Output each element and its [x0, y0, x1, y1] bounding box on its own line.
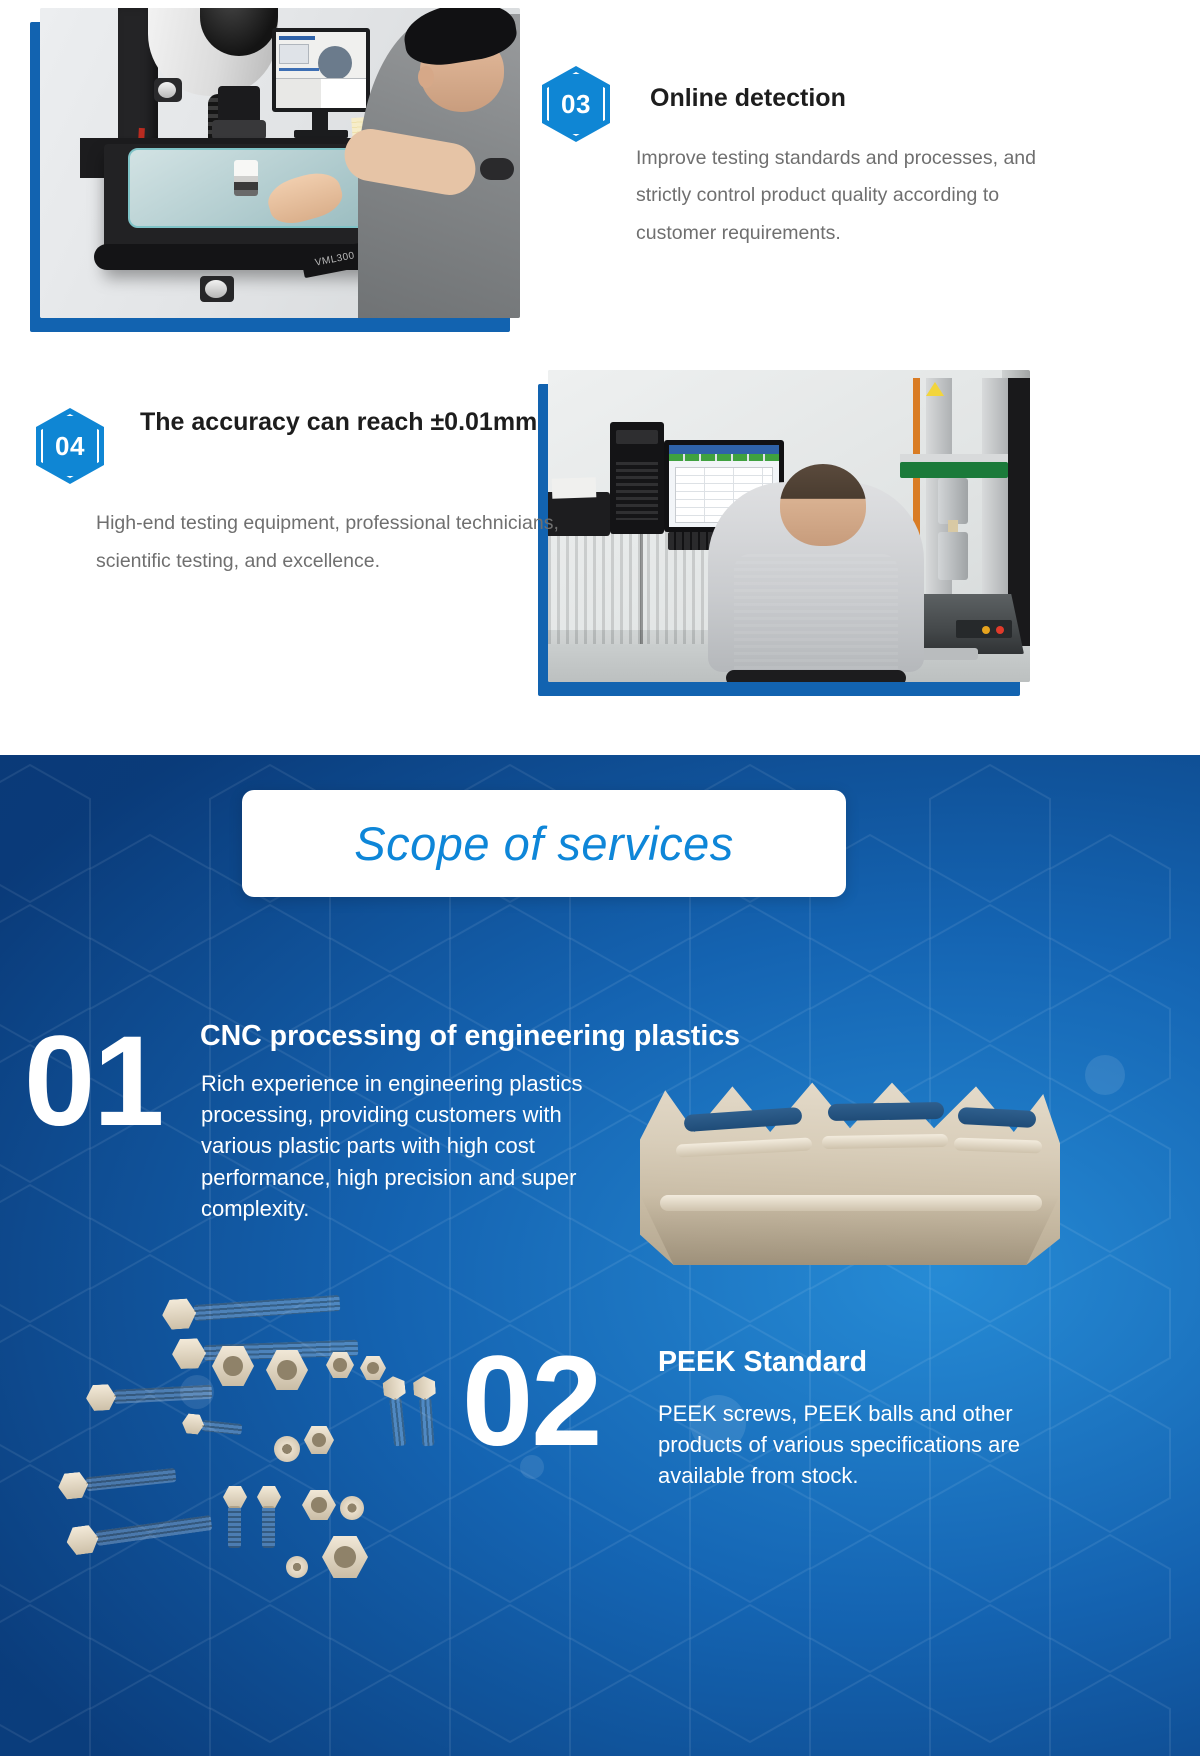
feature-block-03: 03 Online detection Improve testing stan… [538, 62, 1178, 146]
feature-title: The accuracy can reach ±0.01mm [140, 406, 540, 439]
scope-item-title: PEEK Standard [658, 1346, 867, 1379]
scope-item-number: 01 [24, 1018, 162, 1146]
tensile-testing-photo [548, 370, 1030, 682]
photo-content: VML300 [40, 8, 520, 318]
photo-content [548, 370, 1030, 682]
feature-body: High-end testing equipment, professional… [96, 504, 566, 580]
scope-item-body: Rich experience in engineering plastics … [201, 1068, 631, 1224]
scope-item-02: 02 PEEK Standard PEEK screws, PEEK balls… [0, 1330, 1200, 1690]
hex-badge-number: 04 [36, 408, 104, 484]
scope-item-body: PEEK screws, PEEK balls and other produc… [658, 1398, 1073, 1492]
hex-badge-03: 03 [542, 66, 610, 142]
hex-badge-number: 03 [542, 66, 610, 142]
page-title: Scope of services [354, 816, 733, 871]
scope-item-01: 01 CNC processing of engineering plastic… [0, 1010, 1200, 1300]
scope-title-card: Scope of services [242, 790, 846, 897]
features-section: VML300 03 Online detection Improve testi… [0, 0, 1200, 755]
scope-item-number: 02 [462, 1338, 600, 1466]
metrology-photo: VML300 [40, 8, 520, 318]
scope-item-title: CNC processing of engineering plastics [200, 1020, 740, 1053]
feature-block-04: 04 The accuracy can reach ±0.01mm High-e… [36, 398, 556, 494]
feature-body: Improve testing standards and processes,… [636, 140, 1036, 252]
feature-title: Online detection [650, 82, 846, 115]
hex-badge-04: 04 [36, 408, 104, 484]
